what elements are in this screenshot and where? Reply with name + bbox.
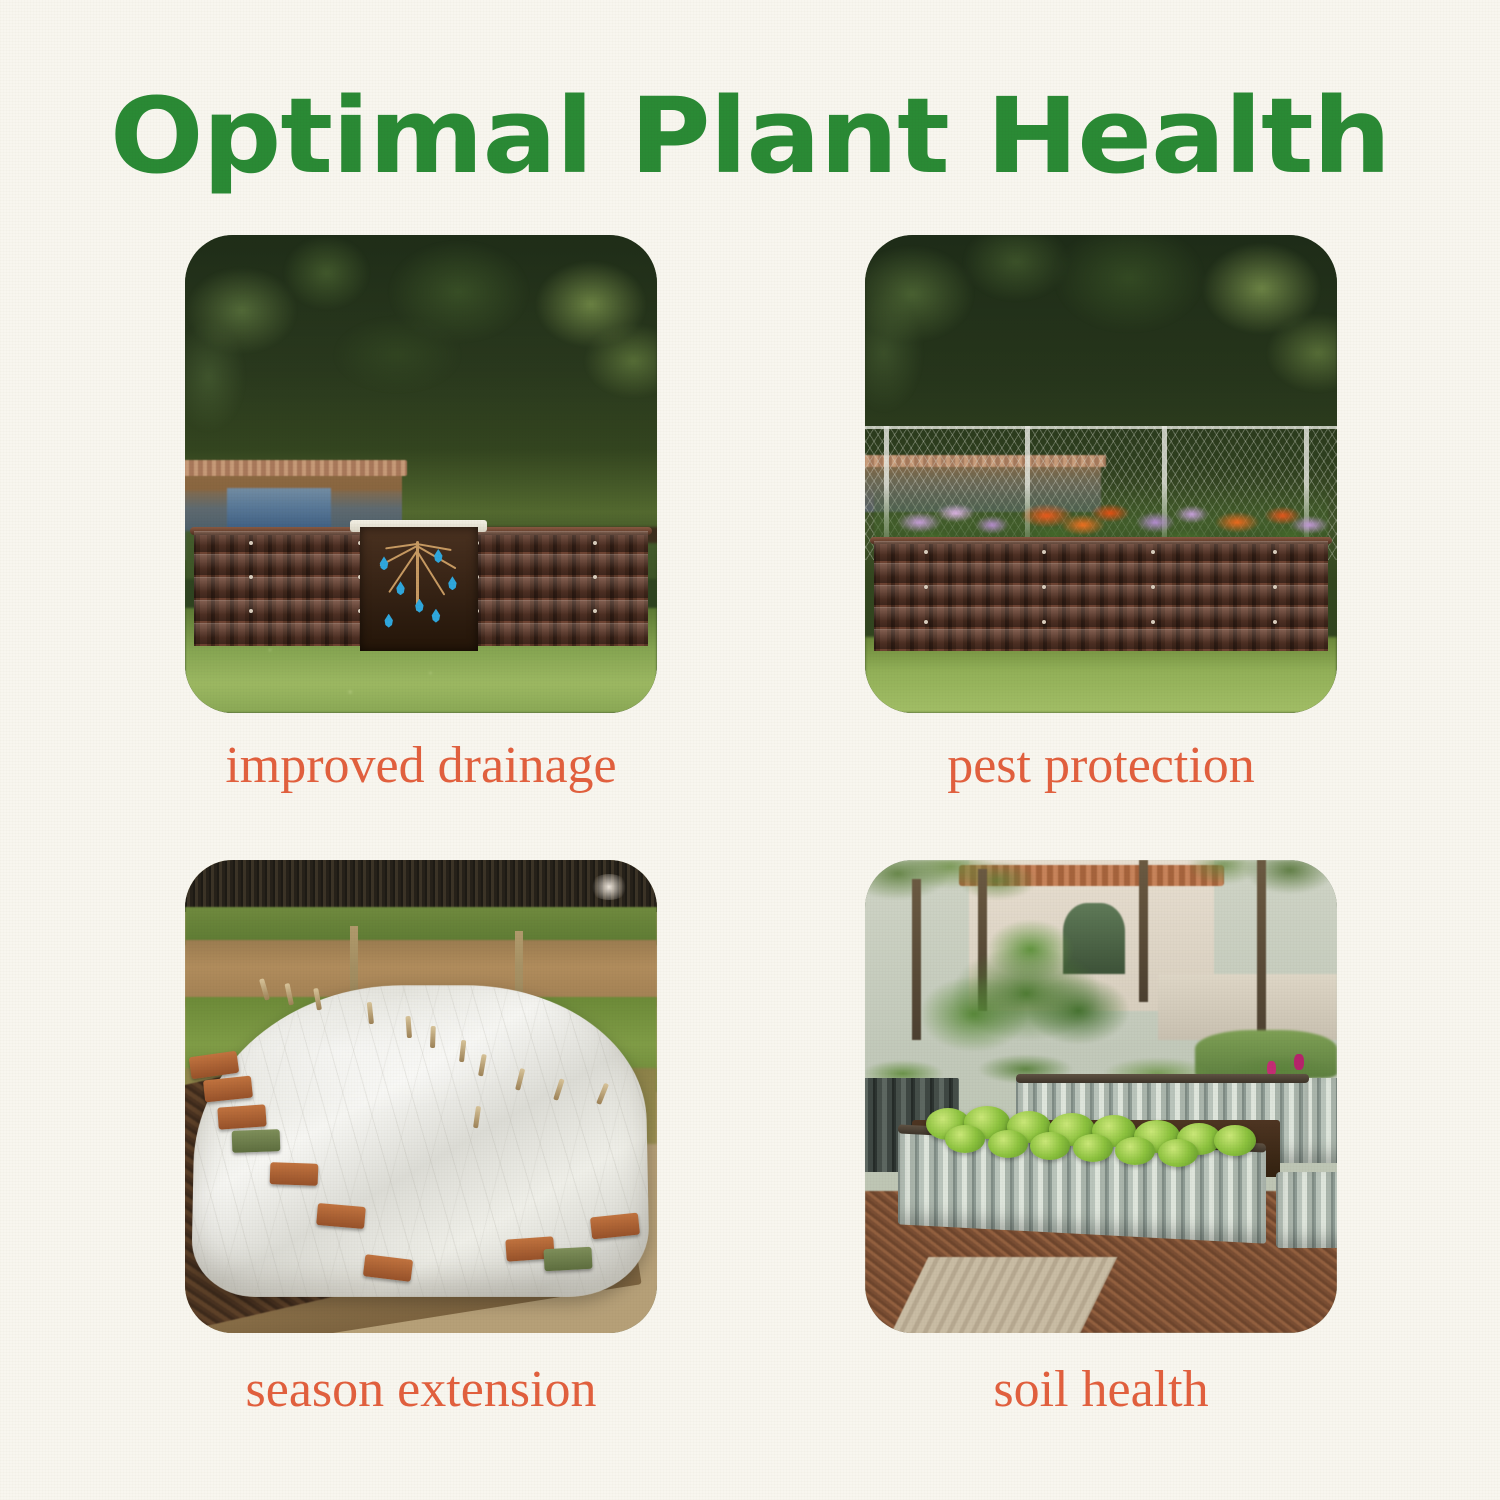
raised-planter-small [1276,1172,1337,1248]
photo-soil-health [865,860,1337,1333]
bed-bolt [1042,550,1046,554]
photo-season-extension [185,860,657,1333]
water-droplet [430,609,441,623]
brick-weight [316,1203,366,1229]
fence-top-rail [865,426,1337,429]
brick-weight [270,1162,319,1186]
bed-corrugation-rib [874,629,1327,649]
brick-weight [217,1104,266,1129]
bed-corrugation-rib [874,585,1327,605]
house-roof [185,460,407,476]
water-droplet [447,576,458,590]
caption-pest-protection: pest protection [865,739,1337,794]
blossom-tree [589,874,629,900]
bed-bolt [1042,585,1046,589]
caption-season-extension: season extension [185,1363,657,1418]
feature-card-soil-health[interactable]: soil health [865,860,1337,1418]
bed-top-rail [1016,1074,1309,1083]
feature-card-pest-protection[interactable]: pest protection [865,235,1337,794]
lettuce-head [988,1130,1028,1158]
bed-corrugation-rib [874,607,1327,627]
palm-trunk [912,879,921,1040]
lettuce-head [1073,1134,1113,1162]
lettuce-head [945,1125,985,1153]
palm-trunk [1139,860,1148,1002]
bed-bolt [593,541,597,545]
lettuce-head [1115,1137,1155,1165]
magenta-flower [1294,1054,1304,1070]
water-droplet [383,614,394,628]
feature-card-season-extension[interactable]: season extension [185,860,657,1418]
lettuce-head [1158,1139,1198,1167]
photo-pest-protection [865,235,1337,713]
bed-bolt [249,575,253,579]
bed-corrugation-rib [874,541,1327,561]
water-droplet [395,581,406,595]
palm-trunk [1257,860,1266,1049]
bed-corrugation-rib [874,563,1327,583]
soil-cutaway-window [360,527,478,651]
brick-weight [232,1129,281,1153]
page-title: Optimal Plant Health [0,84,1500,188]
bed-bolt [1151,620,1155,624]
caption-improved-drainage: improved drainage [185,739,657,794]
feature-card-improved-drainage[interactable]: improved drainage [185,235,657,794]
brick-weight [543,1247,592,1271]
bed-bolt [924,550,928,554]
photo-improved-drainage [185,235,657,713]
brick-weight [203,1075,253,1102]
bed-bolt [249,541,253,545]
bare-treeline [185,860,657,912]
lettuce-head [1214,1125,1256,1156]
feature-grid: improved drainage [185,235,1337,1440]
bed-bolt [1151,585,1155,589]
bed-bolt [1273,550,1277,554]
raised-bed-brown [874,541,1327,651]
water-droplet [379,556,390,570]
bed-bolt [1151,550,1155,554]
caption-soil-health: soil health [865,1363,1337,1418]
brick-weight [590,1212,640,1239]
house-window [227,488,331,529]
lettuce-head [1030,1132,1070,1160]
